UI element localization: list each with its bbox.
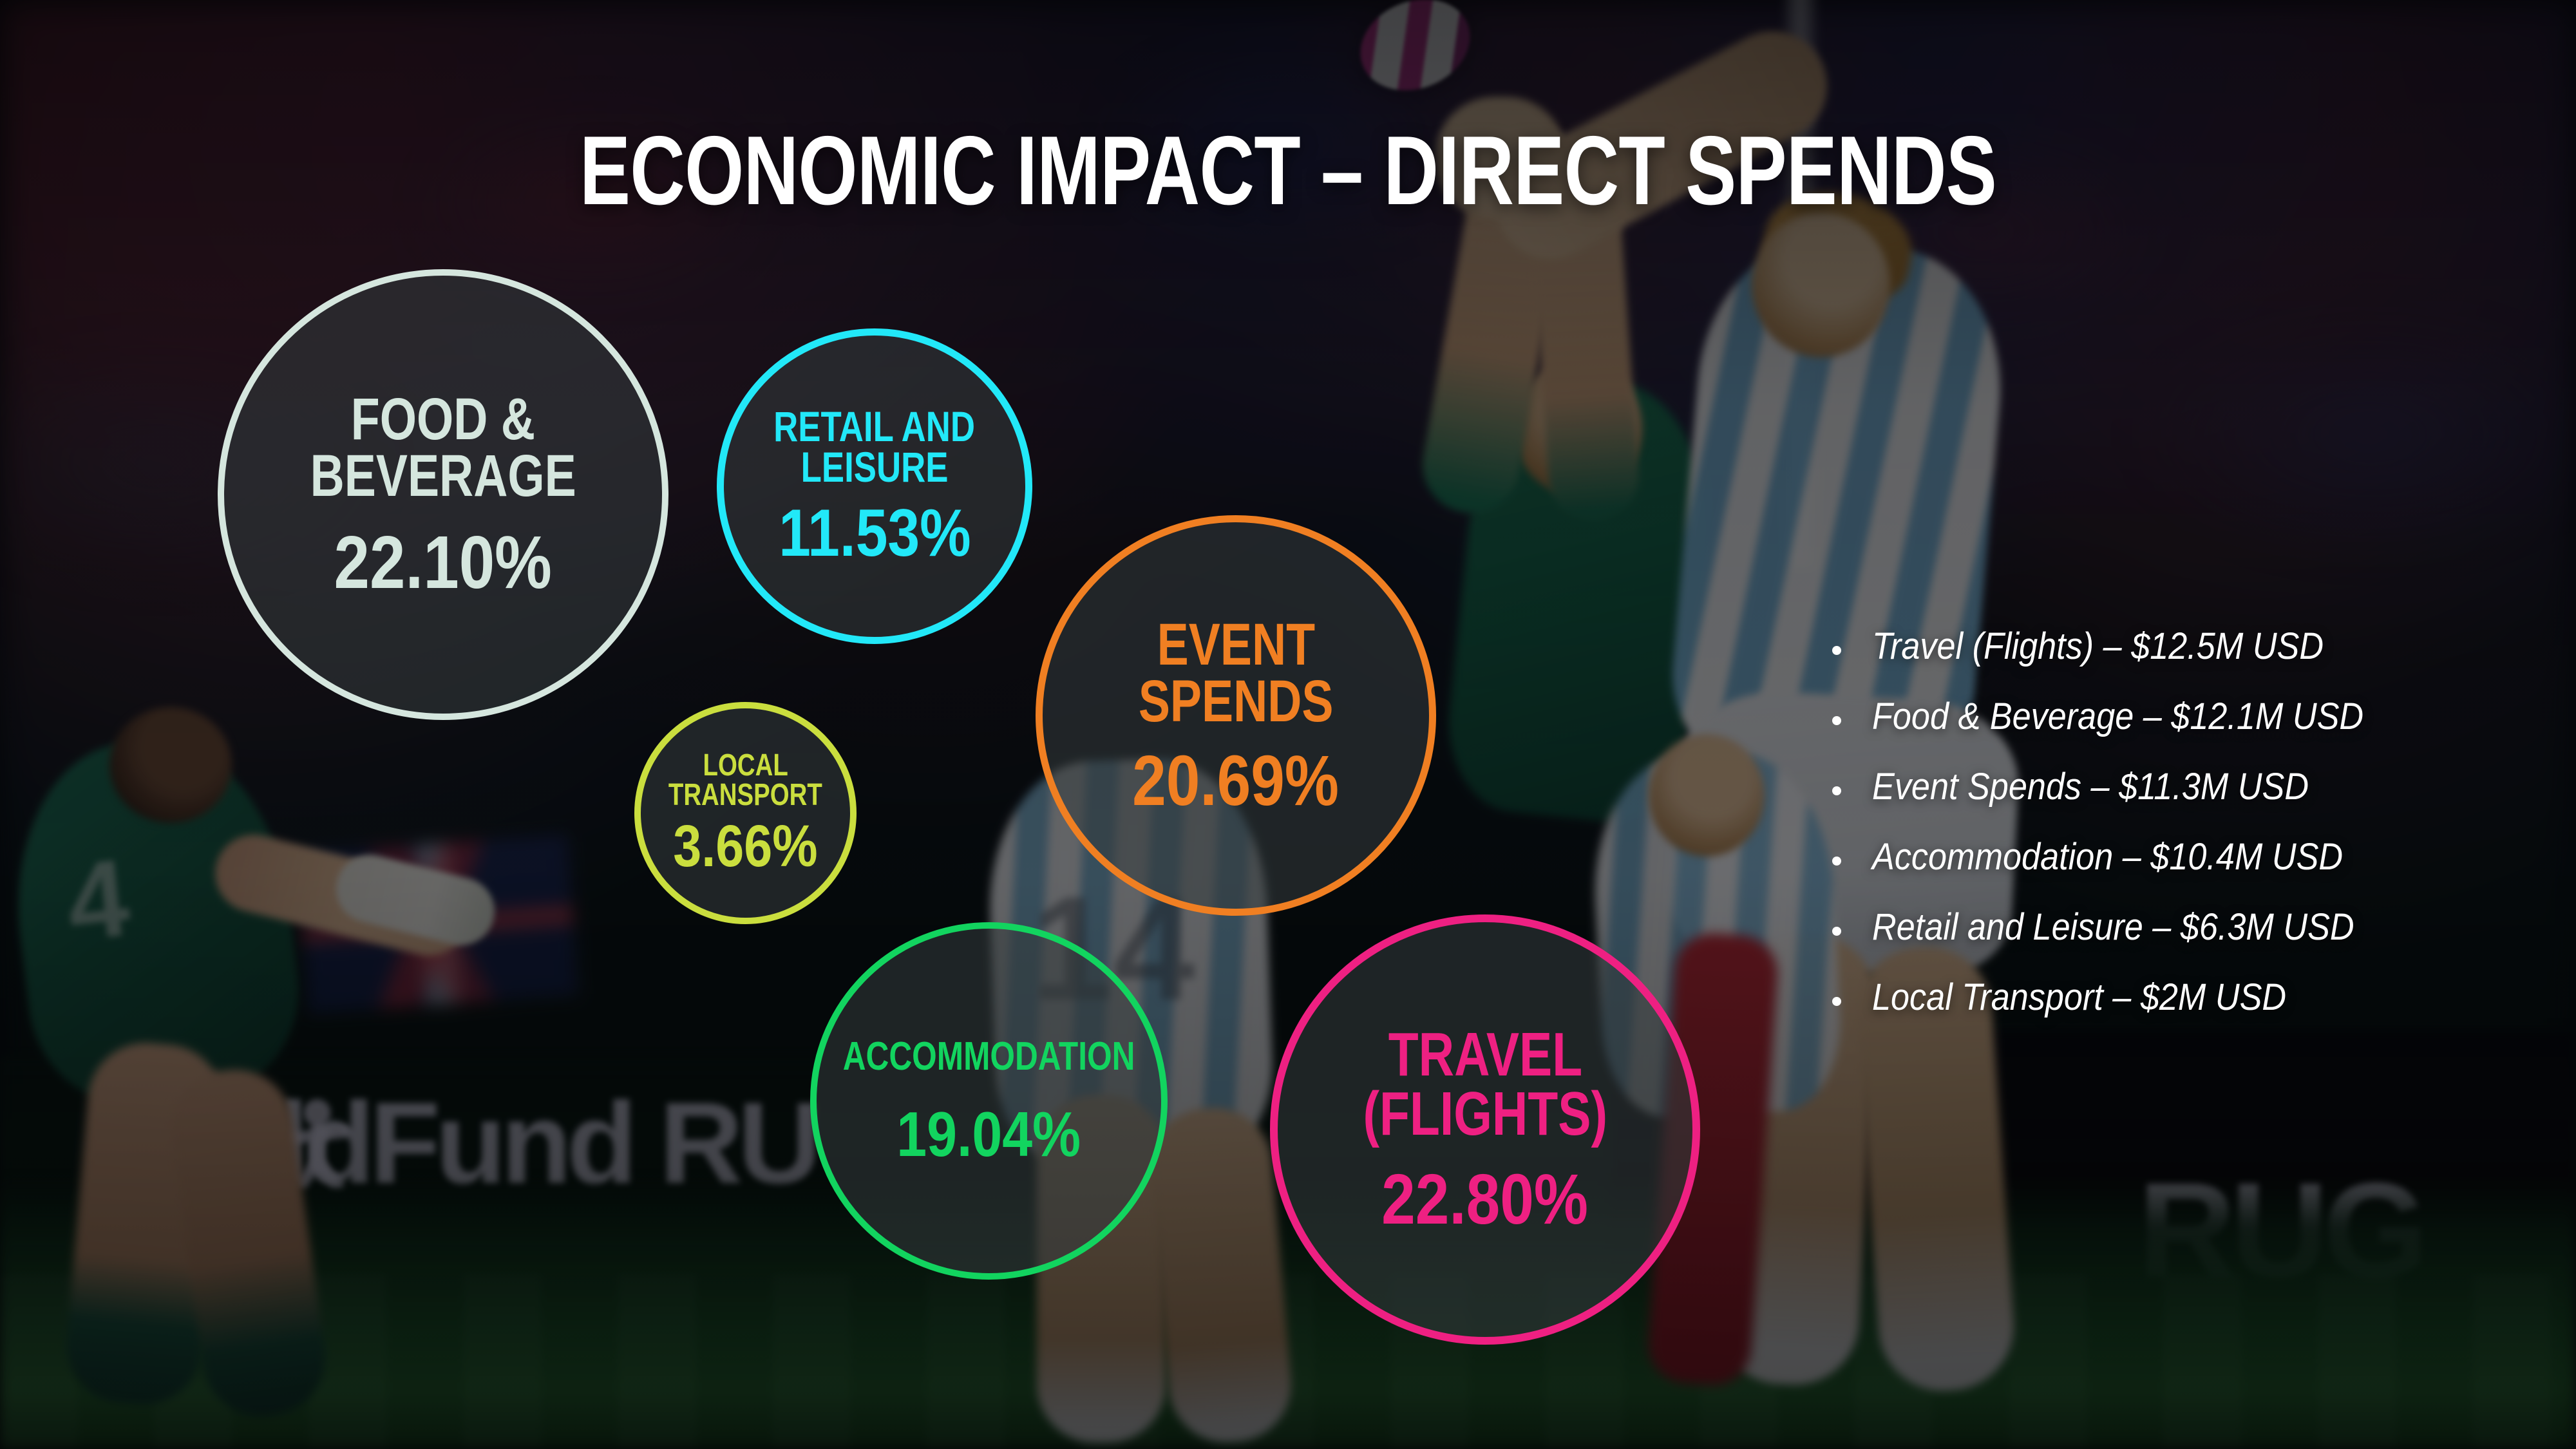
list-item: Travel (Flights) – $12.5M USD xyxy=(1832,628,2553,665)
bubble-accommodation-percent: 19.04% xyxy=(897,1104,1081,1164)
bullet-icon xyxy=(1832,997,1841,1006)
bullet-icon xyxy=(1832,927,1841,936)
bullet-icon xyxy=(1832,857,1841,866)
bubble-food-label-line2: BEVERAGE xyxy=(310,448,576,504)
bullet-icon xyxy=(1832,716,1841,725)
bubble-transport-label-line1: LOCAL xyxy=(703,751,788,781)
list-item: Local Transport – $2M USD xyxy=(1832,979,2553,1016)
bubble-retail-and-leisure[interactable]: RETAIL AND LEISURE 11.53% xyxy=(717,328,1032,644)
bubble-local-transport[interactable]: LOCAL TRANSPORT 3.66% xyxy=(634,702,857,924)
bullet-icon xyxy=(1832,646,1841,655)
bubble-retail-label-line1: RETAIL AND xyxy=(774,406,976,447)
bubble-travel-label-line2: (FLIGHTS) xyxy=(1363,1084,1607,1144)
bubble-event-label-line2: SPENDS xyxy=(1139,673,1334,730)
bubble-accommodation-label: ACCOMMODATION xyxy=(843,1037,1135,1076)
bubble-travel-flights[interactable]: TRAVEL (FLIGHTS) 22.80% xyxy=(1270,914,1700,1345)
list-item-text: Accommodation – $10.4M USD xyxy=(1872,838,2343,876)
bubble-travel-percent: 22.80% xyxy=(1382,1166,1589,1234)
list-item: Accommodation – $10.4M USD xyxy=(1832,838,2553,876)
bubble-food-and-beverage[interactable]: FOOD & BEVERAGE 22.10% xyxy=(218,269,668,720)
bubble-accommodation[interactable]: ACCOMMODATION 19.04% xyxy=(810,922,1168,1280)
presentation-slide: ldFund RU RUG 4 14 xyxy=(0,0,2576,1449)
bubble-event-spends[interactable]: EVENT SPENDS 20.69% xyxy=(1036,515,1436,916)
list-item-text: Travel (Flights) – $12.5M USD xyxy=(1872,628,2324,665)
list-item: Retail and Leisure – $6.3M USD xyxy=(1832,909,2553,946)
bubble-food-percent: 22.10% xyxy=(334,527,552,598)
bubble-event-label-line1: EVENT xyxy=(1157,616,1314,673)
list-item-text: Retail and Leisure – $6.3M USD xyxy=(1872,909,2354,946)
bubble-food-label-line1: FOOD & xyxy=(351,391,535,448)
list-item-text: Food & Beverage – $12.1M USD xyxy=(1872,698,2363,735)
bubble-transport-label-line2: TRANSPORT xyxy=(668,781,822,810)
list-item: Event Spends – $11.3M USD xyxy=(1832,768,2553,806)
bubble-transport-percent: 3.66% xyxy=(673,818,817,875)
bubble-travel-label-line1: TRAVEL xyxy=(1388,1025,1582,1084)
bubble-retail-label-line2: LEISURE xyxy=(801,447,949,488)
list-item: Food & Beverage – $12.1M USD xyxy=(1832,698,2553,735)
list-item-text: Local Transport – $2M USD xyxy=(1872,979,2286,1016)
bubble-retail-percent: 11.53% xyxy=(779,502,971,566)
bullet-icon xyxy=(1832,786,1841,795)
list-item-text: Event Spends – $11.3M USD xyxy=(1872,768,2309,806)
page-title: ECONOMIC IMPACT – DIRECT SPENDS xyxy=(283,115,2293,227)
bubble-event-percent: 20.69% xyxy=(1133,747,1340,815)
direct-spends-list: Travel (Flights) – $12.5M USD Food & Bev… xyxy=(1832,628,2553,1049)
